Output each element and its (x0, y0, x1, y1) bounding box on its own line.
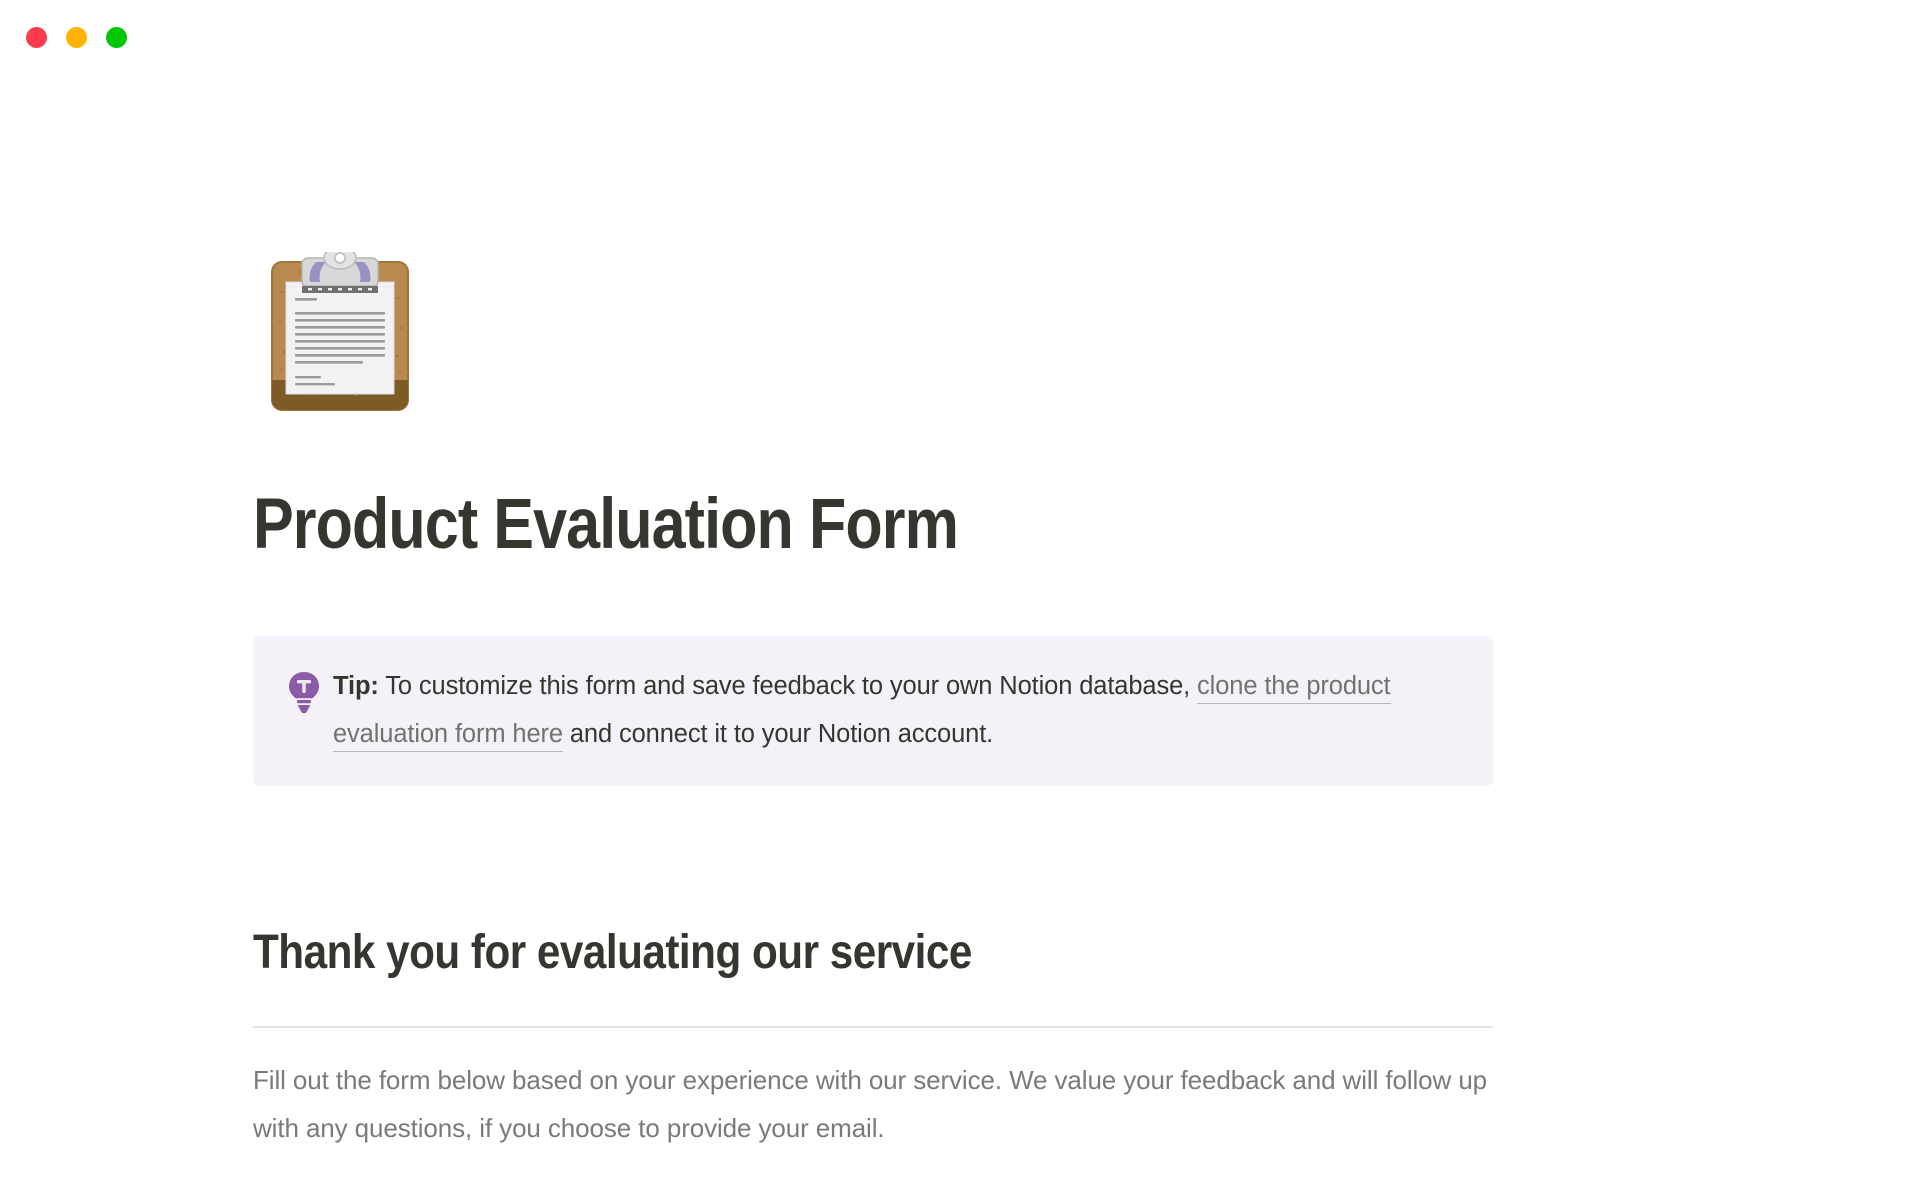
section-heading[interactable]: Thank you for evaluating our service (253, 925, 972, 980)
close-window-button[interactable] (26, 27, 47, 48)
window-titlebar (0, 0, 1920, 72)
tip-callout[interactable]: Tip: To customize this form and save fee… (253, 636, 1493, 786)
tip-label: Tip: (333, 672, 379, 700)
clipboard-emoji-icon[interactable] (270, 252, 410, 412)
tip-text-before-link: To customize this form and save feedback… (379, 672, 1197, 700)
maximize-window-button[interactable] (106, 27, 127, 48)
page-title[interactable]: Product Evaluation Form (253, 486, 958, 564)
section-divider (253, 1026, 1493, 1028)
light-bulb-icon[interactable] (287, 670, 321, 714)
tip-callout-text: Tip: To customize this form and save fee… (333, 662, 1463, 758)
section-paragraph[interactable]: Fill out the form below based on your ex… (253, 1056, 1493, 1152)
minimize-window-button[interactable] (66, 27, 87, 48)
traffic-light-buttons (26, 27, 127, 48)
tip-text-after-link: and connect it to your Notion account. (563, 720, 993, 748)
